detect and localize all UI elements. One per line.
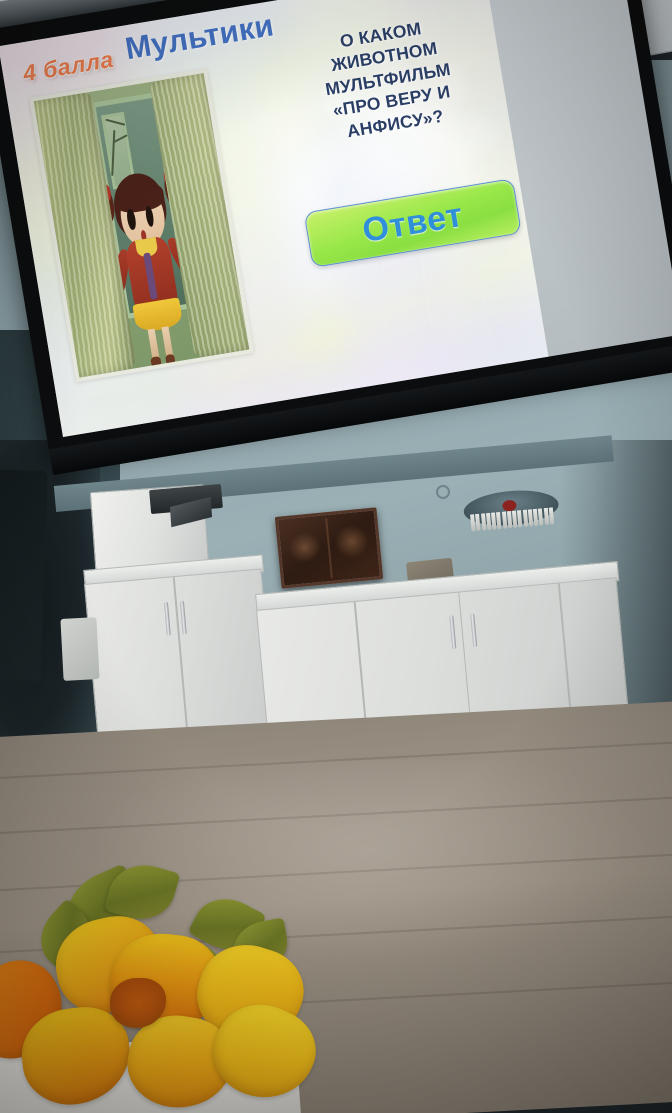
carved-wooden-plaque xyxy=(275,507,383,588)
waste-bin xyxy=(60,617,99,681)
photo-scene: 4 балла Мультики xyxy=(0,0,672,1113)
screen-black-frame: 4 балла Мультики xyxy=(0,0,672,455)
artificial-flower-bouquet xyxy=(0,856,360,1113)
answer-button-label: Ответ xyxy=(360,195,466,250)
wall-hook-icon xyxy=(436,485,450,499)
projected-slide: 4 балла Мультики xyxy=(0,0,548,437)
decorative-wall-disc xyxy=(462,487,560,537)
dark-chair xyxy=(0,469,48,681)
